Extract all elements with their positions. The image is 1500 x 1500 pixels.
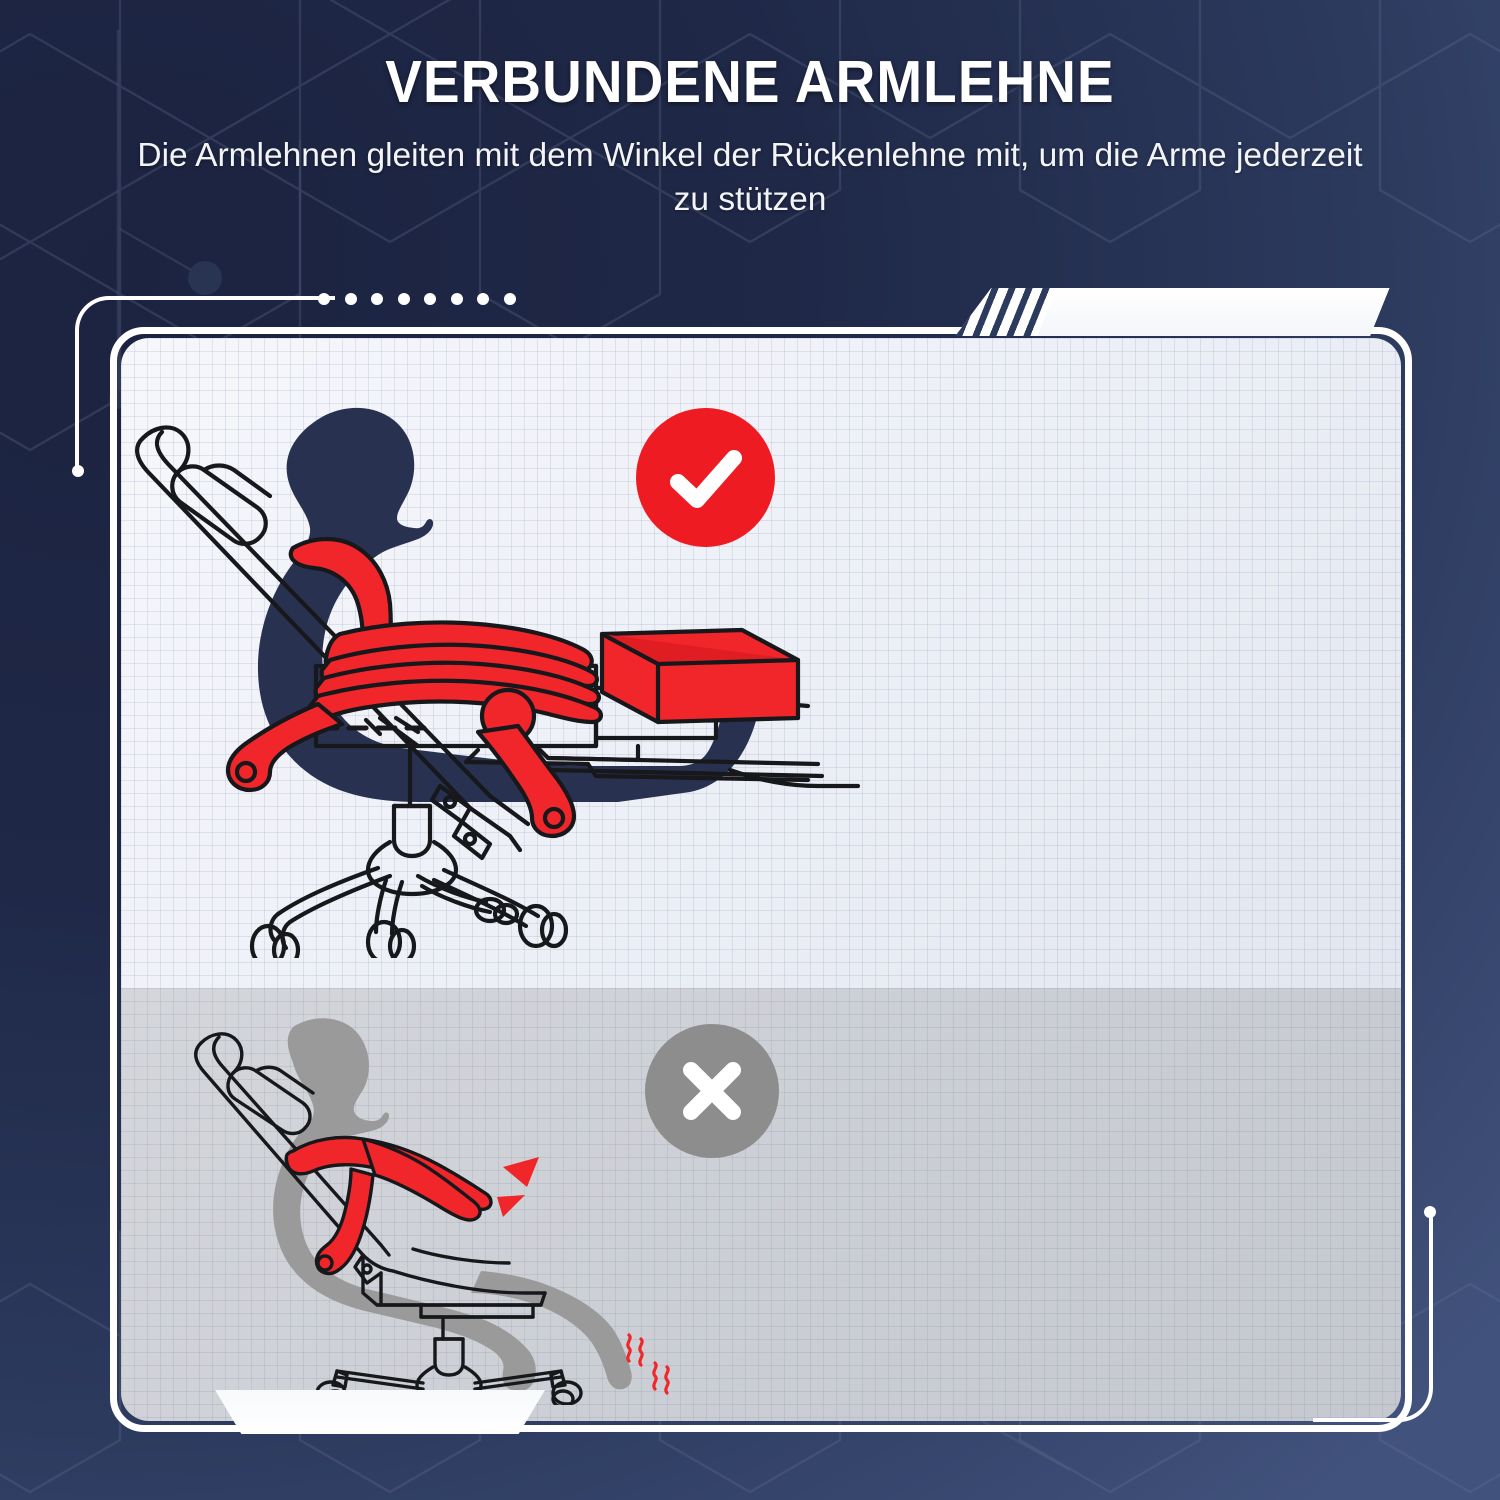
decor-dot bbox=[504, 293, 516, 305]
decor-dot bbox=[371, 293, 383, 305]
cross-icon bbox=[671, 1050, 753, 1132]
decor-dot bbox=[424, 293, 436, 305]
illustration-reclined-chair-connected-armrest bbox=[118, 398, 928, 958]
infographic-canvas: VERBUNDENE ARMLEHNE Die Armlehnen gleite… bbox=[0, 0, 1500, 1500]
decor-slash-stripes bbox=[955, 288, 1056, 336]
check-icon bbox=[660, 432, 752, 524]
page-title: VERBUNDENE ARMLEHNE bbox=[53, 52, 1448, 114]
decor-tab-top-right bbox=[955, 288, 1389, 336]
decor-dot bbox=[345, 293, 357, 305]
decor-dot bbox=[318, 293, 330, 305]
header: VERBUNDENE ARMLEHNE Die Armlehnen gleite… bbox=[0, 52, 1500, 222]
decor-dot bbox=[398, 293, 410, 305]
decor-dot bbox=[477, 293, 489, 305]
verdict-badge-good bbox=[636, 408, 775, 547]
decor-tab-bottom-left bbox=[215, 1390, 545, 1434]
decor-dot-row bbox=[318, 293, 516, 305]
page-subtitle: Die Armlehnen gleiten mit dem Winkel der… bbox=[0, 134, 1500, 222]
verdict-badge-bad bbox=[645, 1024, 779, 1158]
decor-dot bbox=[451, 293, 463, 305]
